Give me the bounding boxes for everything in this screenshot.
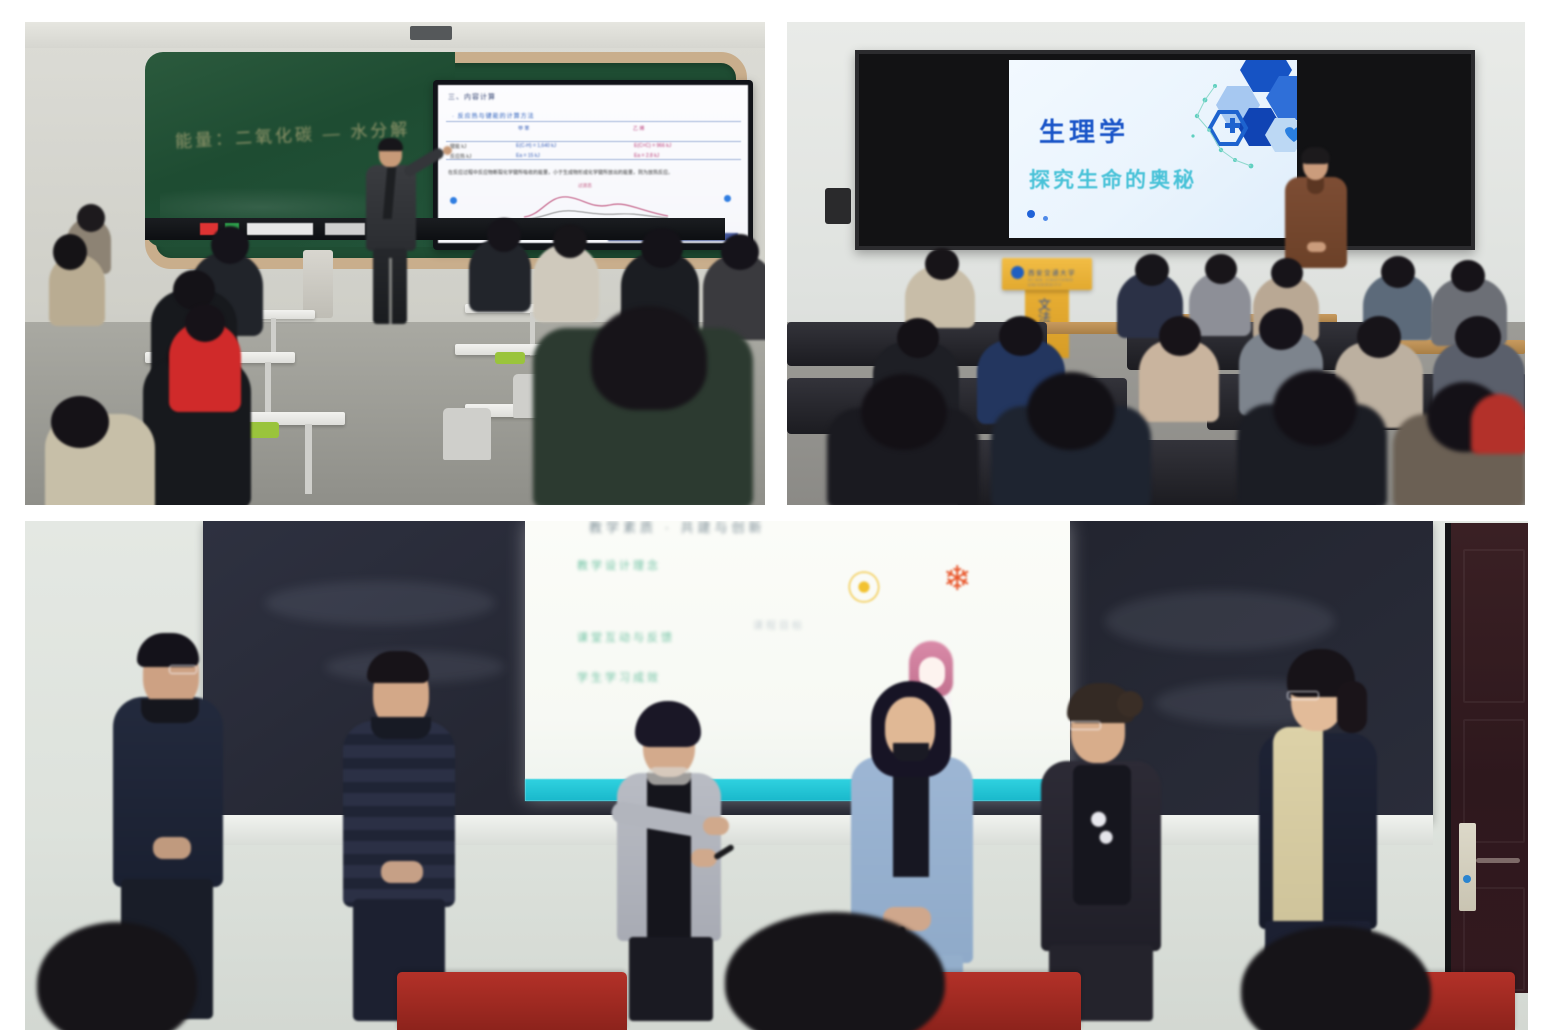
physiology-slide: 生理学 探究生命的奥秘 [1009,60,1297,238]
student-head [53,234,87,270]
slide-subtitle: · 反应热与键能的计算方法 [452,111,535,120]
audience-head [1451,260,1485,292]
audience-head [897,318,939,358]
panel-1-classroom-lecture: 能量：二氧化碳 — 水分解 三、内容计算 · 反应热与键能的计算方法 甲 苯 乙… [25,22,765,505]
slide-subtitle-physiology: 探究生命的奥秘 [1029,164,1197,194]
slide-column-header-right: 乙 烯 [633,125,644,132]
wall-speaker [825,188,851,224]
audience-head [1455,316,1501,358]
slide-title: 三、内容计算 [448,92,496,102]
projection-bullet-2: 课堂互动与反馈 [577,629,675,645]
audience-head-foreground [1273,370,1357,446]
presenter-hair [1301,147,1330,164]
audience-head-foreground [1027,372,1115,450]
door-indicator-icon [1463,875,1471,883]
presenter-clasped-hands [1307,242,1326,252]
cream-fur-collar [1273,727,1323,935]
photo-collage: 能量：二氧化碳 — 水分解 三、内容计算 · 反应热与键能的计算方法 甲 苯 乙… [0,0,1550,1030]
chair-back [443,408,491,460]
glasses-icon [1287,691,1319,700]
hair [137,633,199,667]
student-head [77,204,105,232]
slide-equation-right: E(C=C) = 966 kJ [634,143,671,149]
slide-decorative-dot-small [1043,216,1048,221]
slide-paragraph: 在反应过程中反应物断裂化学键所吸收的能量，小于生成物形成化学键所放出的能量，则为… [448,169,740,177]
slide-equation-left: E(C-H) = 1,640 kJ [516,143,556,149]
student-head [553,224,587,258]
audience-head [999,316,1043,356]
projection-faded-text: 课程目标 [753,617,805,632]
lectern-university-name-en: XI'AN JIAOTONG UNIVERSITY [1028,277,1092,287]
lectern-university-name: 西安交通大学 [1028,267,1076,277]
slide-rule-top [446,121,741,122]
teacher-leg-gap [389,258,392,324]
short-hair [635,701,701,747]
lectern-vertical-text: 文法 [1036,298,1051,324]
side-podium [303,250,333,318]
desk-leg [305,424,312,494]
student-head [721,234,759,270]
student-head [185,304,225,342]
hair [367,651,429,683]
audience-head-foreground [861,374,947,450]
audience-head [1357,316,1401,358]
audience-head [1381,256,1415,288]
audience-head [1159,316,1201,356]
student-head-foreground [591,306,707,410]
collar [371,717,431,739]
neck-scarf [893,743,929,761]
student-head [211,226,249,264]
room-door [1445,523,1528,993]
person-presenter-female [1283,150,1349,268]
door-handle[interactable] [1476,858,1520,863]
slide-rule-bottom [446,159,741,160]
slide-title-physiology: 生理学 [1039,112,1129,149]
audience-head [1259,308,1303,350]
audience-head [925,248,959,280]
ponytail [1337,681,1367,733]
projection-title: 教学素质 · 共建与创新 [589,521,766,536]
slide-bullet-dot-left [450,197,457,204]
lectern-top: 西安交通大学 XI'AN JIAOTONG UNIVERSITY [1002,258,1092,290]
presenter-collar [1307,178,1324,194]
clasped-hands [381,861,423,883]
person-teacher-male [361,140,419,324]
curve-label-transition: 过渡态 [578,183,592,189]
ribbon-emoji-icon: ⦿ [847,561,881,610]
mic-holding-hand [691,849,717,867]
door-panel-upper [1463,549,1525,703]
projection-bullet-3: 学生学习成效 [577,669,661,685]
black-inner-top [647,773,691,941]
slide-bullet-dot-right [724,195,731,202]
teacher-hair [378,138,403,151]
audience-head [1271,258,1303,288]
gesturing-hand [703,817,729,835]
student-head [487,218,521,252]
necklace [647,767,691,785]
slide-row-label-1: 键能 kJ [450,143,466,150]
panel-3-panel-discussion: 教学素质 · 共建与创新 教学设计理念 课堂互动与反馈 学生学习成效 课程目标 … [25,521,1528,1030]
slide-rule-mid [446,141,741,142]
glasses-icon [169,665,197,674]
collar [141,699,199,723]
university-logo-icon [1011,266,1024,279]
door-lock-plate[interactable] [1459,823,1476,911]
slide-equation-left-2: Ea = 15 kJ [516,153,540,159]
rail-sticker-grey [325,223,365,235]
chair-back-red [397,972,627,1030]
slide-column-header-left: 甲 苯 [518,125,529,132]
glasses-icon [1069,721,1101,730]
student-head [51,396,109,448]
audience-red-coat [1471,394,1525,454]
slide-row-label-2: 反应热 kJ [450,153,471,160]
projection-bullet-1: 教学设计理念 [577,557,661,573]
chalk-smudge [265,581,495,625]
ceiling-strip [25,22,765,48]
sweatshirt-print-graphic [1085,799,1119,857]
slide-decorative-dot-large [1027,210,1035,218]
audience-head [1135,254,1169,286]
student-head [641,228,683,268]
rail-sticker-white [247,223,313,235]
award-emoji-icon: ❄ [943,559,972,599]
slide-equation-right-2: Ea = 2.8 kJ [634,153,659,159]
ceiling-projector-box [410,26,452,40]
chalk-smudge [1105,591,1335,651]
panel-2-lecture-hall: 生理学 探究生命的奥秘 西安交通大学 XI'AN JIAOTONG UNIVER… [787,22,1525,505]
hair-bun [1117,691,1143,717]
audience-head [1205,254,1237,284]
teacher-hand [443,146,452,155]
seat-pad [495,352,525,364]
clasped-hands [153,837,191,859]
